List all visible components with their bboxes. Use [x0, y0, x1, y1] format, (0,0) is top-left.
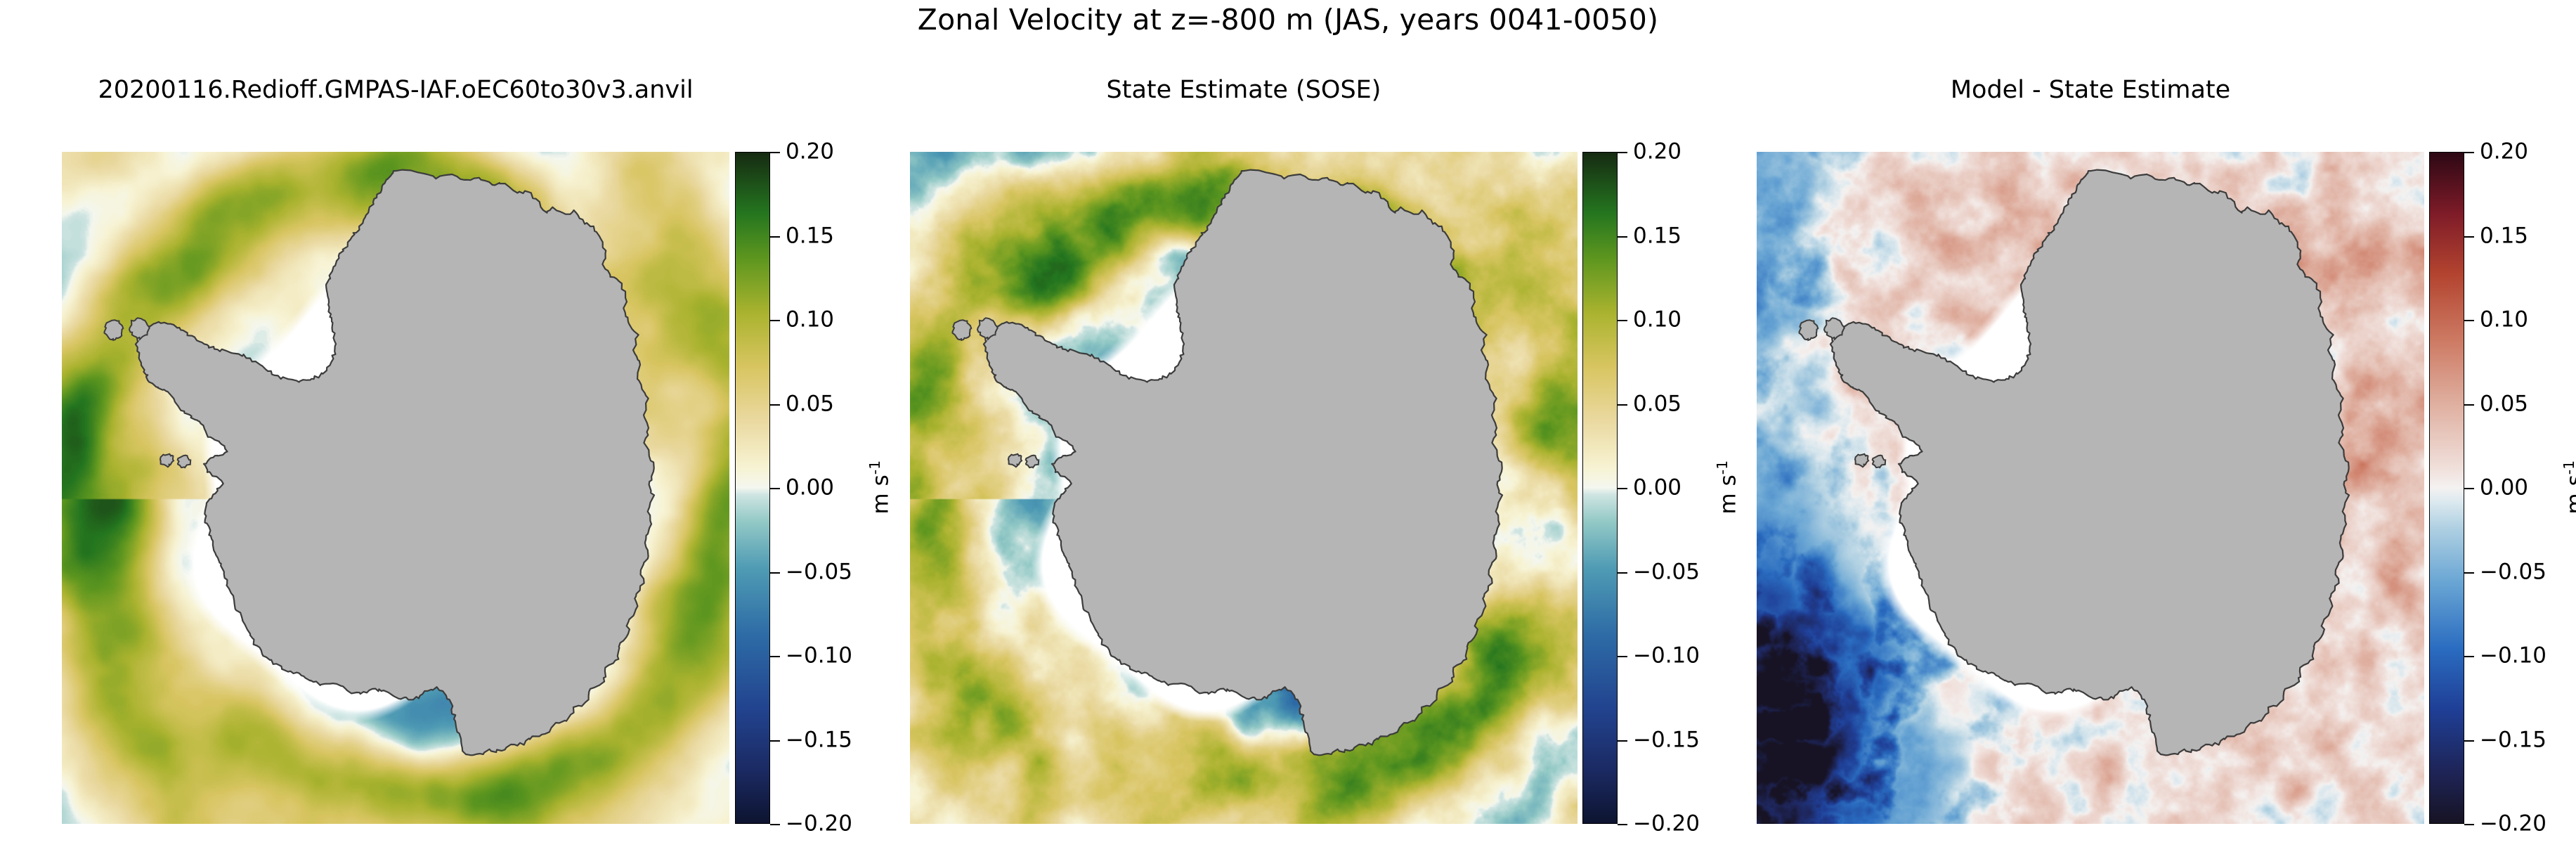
colorbar-tick-mark [770, 320, 780, 321]
figure-suptitle: Zonal Velocity at z=-800 m (JAS, years 0… [0, 3, 2576, 37]
colorbar-unit-label: m s-1 [866, 460, 893, 515]
colorbar-tick-mark [770, 824, 780, 825]
panel-title-model: 20200116.Redioff.GMPAS-IAF.oEC60to30v3.a… [62, 76, 729, 104]
colorbar-tick-mark [770, 404, 780, 406]
colorbar-tick-label: −0.15 [2480, 729, 2546, 751]
colorbar-tick-mark [770, 740, 780, 742]
colorbar-tick-label: −0.10 [2480, 645, 2546, 667]
colorbar-tick-mark [2464, 152, 2474, 153]
colorbar-tick-label: 0.15 [1633, 225, 1681, 247]
colorbar-tick-label: 0.00 [2480, 477, 2528, 499]
map-panel-model[interactable] [62, 152, 729, 824]
colorbar-tick-mark [2464, 320, 2474, 321]
colorbar-unit-label: m s-1 [2561, 460, 2576, 515]
colorbar-tick-label: 0.20 [2480, 141, 2528, 163]
colorbar-tick-mark [770, 488, 780, 489]
colorbar-tick-label: −0.15 [1633, 729, 1700, 751]
colorbar-tick-mark [2464, 236, 2474, 238]
map-panel-state-estimate[interactable] [910, 152, 1578, 824]
colorbar-ticks-state-estimate: 0.200.150.100.050.00−0.05−0.10−0.15−0.20… [1618, 152, 1737, 824]
colorbar-tick-label: −0.20 [786, 813, 852, 835]
colorbar-tick-label: −0.05 [786, 561, 852, 583]
panel-title-difference: Model - State Estimate [1757, 76, 2424, 104]
colorbar-tick-label: 0.05 [1633, 393, 1681, 415]
colorbar-tick-mark [1618, 320, 1627, 321]
colorbar-tick-mark [1618, 740, 1627, 742]
colorbar-tick-mark [1618, 404, 1627, 406]
colorbar-ticks-difference: 0.200.150.100.050.00−0.05−0.10−0.15−0.20… [2464, 152, 2576, 824]
colorbar-tick-label: −0.05 [1633, 561, 1700, 583]
colorbar-tick-label: 0.20 [786, 141, 834, 163]
colorbar-tick-mark [1618, 152, 1627, 153]
colorbar-tick-label: 0.10 [2480, 309, 2528, 331]
colorbar-tick-label: 0.05 [786, 393, 834, 415]
colorbar-tick-label: 0.10 [1633, 309, 1681, 331]
map-panel-difference[interactable] [1757, 152, 2424, 824]
colorbar-tick-label: 0.00 [786, 477, 834, 499]
colorbar-tick-label: −0.10 [786, 645, 852, 667]
colorbar-tick-label: 0.15 [786, 225, 834, 247]
colorbar-tick-label: 0.05 [2480, 393, 2528, 415]
colorbar-tick-label: −0.20 [2480, 813, 2546, 835]
colorbar-tick-mark [770, 152, 780, 153]
colorbar-tick-mark [1618, 656, 1627, 657]
colorbar-tick-mark [2464, 404, 2474, 406]
colorbar-difference[interactable] [2429, 152, 2464, 824]
colorbar-tick-mark [1618, 572, 1627, 574]
velocity-field-state-estimate [910, 152, 1578, 824]
colorbar-tick-label: 0.00 [1633, 477, 1681, 499]
colorbar-tick-label: −0.20 [1633, 813, 1700, 835]
colorbar-unit-label: m s-1 [1714, 460, 1741, 515]
colorbar-tick-mark [2464, 488, 2474, 489]
colorbar-tick-label: −0.10 [1633, 645, 1700, 667]
colorbar-tick-label: −0.05 [2480, 561, 2546, 583]
panel-title-state-estimate: State Estimate (SOSE) [910, 76, 1578, 104]
colorbar-tick-mark [2464, 572, 2474, 574]
colorbar-tick-mark [2464, 824, 2474, 825]
colorbar-state-estimate[interactable] [1582, 152, 1618, 824]
colorbar-model[interactable] [735, 152, 770, 824]
colorbar-tick-mark [770, 656, 780, 657]
colorbar-tick-mark [1618, 488, 1627, 489]
colorbar-ticks-model: 0.200.150.100.050.00−0.05−0.10−0.15−0.20… [770, 152, 890, 824]
colorbar-tick-mark [770, 572, 780, 574]
colorbar-tick-mark [2464, 656, 2474, 657]
colorbar-tick-label: −0.15 [786, 729, 852, 751]
colorbar-tick-label: 0.10 [786, 309, 834, 331]
colorbar-tick-mark [1618, 236, 1627, 238]
velocity-field-model [62, 152, 729, 824]
colorbar-tick-label: 0.20 [1633, 141, 1681, 163]
colorbar-tick-label: 0.15 [2480, 225, 2528, 247]
velocity-field-difference [1757, 152, 2424, 824]
colorbar-tick-mark [2464, 740, 2474, 742]
colorbar-tick-mark [1618, 824, 1627, 825]
colorbar-tick-mark [770, 236, 780, 238]
